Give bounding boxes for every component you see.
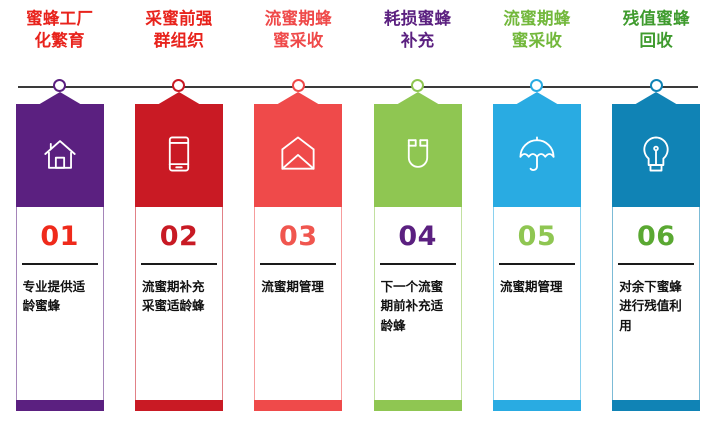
step-divider-5 xyxy=(499,263,575,265)
umbrella-icon xyxy=(514,131,560,181)
step-heading-1: 蜜蜂工厂 化繁育 xyxy=(26,8,93,52)
step-heading-4: 耗损蜜蜂 补充 xyxy=(384,8,451,52)
step-cards-row: 01专业提供适龄蜜蜂02流蜜期补充采蜜适龄蜂03流蜜期管理04下一个流蜜期前补充… xyxy=(0,92,716,417)
step-card-4[interactable]: 04下一个流蜜期前补充适龄蜂 xyxy=(374,92,462,417)
step-number-5: 05 xyxy=(518,223,557,250)
timeline-marker-4 xyxy=(411,79,424,92)
step-divider-6 xyxy=(618,263,694,265)
step-card-2[interactable]: 02流蜜期补充采蜜适龄蜂 xyxy=(135,92,223,417)
headings-row: 蜜蜂工厂 化繁育采蜜前强 群组织流蜜期蜂 蜜采收耗损蜜蜂 补充流蜜期蜂 蜜采收残… xyxy=(0,0,716,78)
step-body-6: 06对余下蜜蜂进行残值利用 xyxy=(612,207,700,417)
card-edge-right-1 xyxy=(103,207,104,411)
step-body-4: 04下一个流蜜期前补充适龄蜂 xyxy=(374,207,462,417)
step-card-3[interactable]: 03流蜜期管理 xyxy=(254,92,342,417)
timeline-marker-5 xyxy=(530,79,543,92)
step-divider-1 xyxy=(22,263,98,265)
step-heading-2: 采蜜前强 群组织 xyxy=(145,8,212,52)
step-footer-bar-1 xyxy=(16,400,104,411)
step-icon-block-5 xyxy=(493,104,581,207)
step-icon-block-3 xyxy=(254,104,342,207)
timeline-marker-2 xyxy=(172,79,185,92)
step-number-1: 01 xyxy=(40,223,79,250)
step-icon-block-2 xyxy=(135,104,223,207)
step-icon-block-1 xyxy=(16,104,104,207)
step-icon-block-4 xyxy=(374,104,462,207)
magnet-icon xyxy=(395,131,441,181)
step-number-2: 02 xyxy=(160,223,199,250)
step-body-5: 05流蜜期管理 xyxy=(493,207,581,417)
step-card-5[interactable]: 05流蜜期管理 xyxy=(493,92,581,417)
step-body-3: 03流蜜期管理 xyxy=(254,207,342,417)
step-number-6: 06 xyxy=(637,223,676,250)
pennant-tip-2 xyxy=(157,92,201,105)
house-icon xyxy=(37,131,83,181)
step-number-3: 03 xyxy=(279,223,318,250)
timeline-marker-3 xyxy=(292,79,305,92)
pennant-tip-3 xyxy=(276,92,320,105)
step-divider-2 xyxy=(141,263,217,265)
card-edge-left-1 xyxy=(16,207,17,411)
step-card-6[interactable]: 06对余下蜜蜂进行残值利用 xyxy=(612,92,700,417)
timeline-marker-6 xyxy=(650,79,663,92)
step-card-cell-4: 04下一个流蜜期前补充适龄蜂 xyxy=(358,92,477,417)
step-heading-6: 残值蜜蜂 回收 xyxy=(623,8,690,52)
heading-cell-4: 耗损蜜蜂 补充 xyxy=(358,0,477,78)
pennant-tip-4 xyxy=(396,92,440,105)
step-number-4: 04 xyxy=(398,223,437,250)
step-card-cell-3: 03流蜜期管理 xyxy=(239,92,358,417)
step-heading-5: 流蜜期蜂 蜜采收 xyxy=(503,8,570,52)
heading-cell-1: 蜜蜂工厂 化繁育 xyxy=(0,0,119,78)
card-edge-right-4 xyxy=(461,207,462,411)
card-edge-left-4 xyxy=(374,207,375,411)
step-description-3: 流蜜期管理 xyxy=(261,277,335,296)
pennant-tip-6 xyxy=(634,92,678,105)
step-card-cell-2: 02流蜜期补充采蜜适龄蜂 xyxy=(119,92,238,417)
card-edge-right-6 xyxy=(699,207,700,411)
process-timeline-infographic: 蜜蜂工厂 化繁育采蜜前强 群组织流蜜期蜂 蜜采收耗损蜜蜂 补充流蜜期蜂 蜜采收残… xyxy=(0,0,716,427)
step-footer-bar-6 xyxy=(612,400,700,411)
step-footer-bar-2 xyxy=(135,400,223,411)
card-edge-left-3 xyxy=(254,207,255,411)
step-footer-bar-3 xyxy=(254,400,342,411)
card-edge-left-2 xyxy=(135,207,136,411)
step-description-5: 流蜜期管理 xyxy=(500,277,574,296)
heading-cell-3: 流蜜期蜂 蜜采收 xyxy=(239,0,358,78)
card-edge-right-3 xyxy=(341,207,342,411)
step-icon-block-6 xyxy=(612,104,700,207)
step-card-cell-5: 05流蜜期管理 xyxy=(477,92,596,417)
step-divider-4 xyxy=(380,263,456,265)
heading-cell-2: 采蜜前强 群组织 xyxy=(119,0,238,78)
step-divider-3 xyxy=(260,263,336,265)
step-description-2: 流蜜期补充采蜜适龄蜂 xyxy=(142,277,216,316)
heading-cell-5: 流蜜期蜂 蜜采收 xyxy=(477,0,596,78)
mobile-phone-icon xyxy=(156,131,202,181)
step-card-cell-6: 06对余下蜜蜂进行残值利用 xyxy=(597,92,716,417)
lightbulb-icon xyxy=(633,131,679,181)
step-heading-3: 流蜜期蜂 蜜采收 xyxy=(265,8,332,52)
step-body-1: 01专业提供适龄蜜蜂 xyxy=(16,207,104,417)
card-edge-left-5 xyxy=(493,207,494,411)
card-edge-right-2 xyxy=(222,207,223,411)
pennant-tip-1 xyxy=(38,92,82,105)
card-edge-left-6 xyxy=(612,207,613,411)
step-footer-bar-5 xyxy=(493,400,581,411)
step-description-1: 专业提供适龄蜜蜂 xyxy=(23,277,97,316)
card-edge-right-5 xyxy=(580,207,581,411)
step-body-2: 02流蜜期补充采蜜适龄蜂 xyxy=(135,207,223,417)
heading-cell-6: 残值蜜蜂 回收 xyxy=(597,0,716,78)
pennant-tip-5 xyxy=(515,92,559,105)
step-card-1[interactable]: 01专业提供适龄蜜蜂 xyxy=(16,92,104,417)
step-card-cell-1: 01专业提供适龄蜜蜂 xyxy=(0,92,119,417)
step-footer-bar-4 xyxy=(374,400,462,411)
envelope-icon xyxy=(275,131,321,181)
timeline-marker-1 xyxy=(53,79,66,92)
step-description-4: 下一个流蜜期前补充适龄蜂 xyxy=(381,277,455,335)
step-description-6: 对余下蜜蜂进行残值利用 xyxy=(619,277,693,335)
